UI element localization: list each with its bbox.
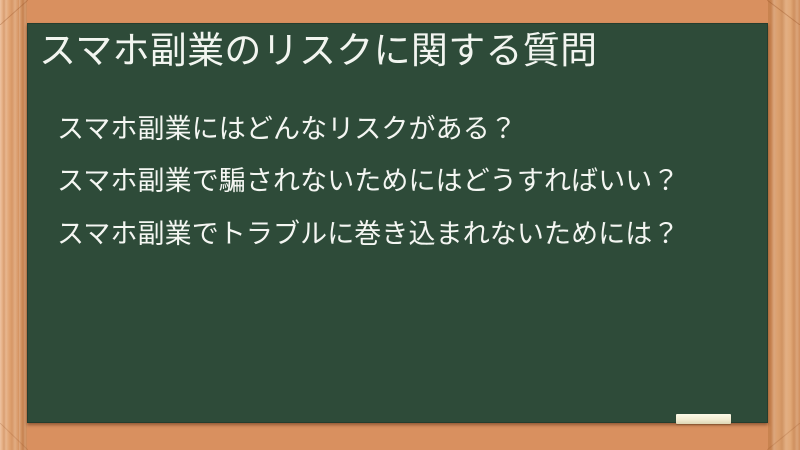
frame-rail-bottom bbox=[0, 424, 800, 450]
question-list-item: スマホ副業で騙されないためにはどうすればいい？ bbox=[57, 163, 757, 201]
question-list: スマホ副業にはどんなリスクがある？ スマホ副業で騙されないためにはどうすればいい… bbox=[57, 111, 757, 268]
question-list-item: スマホ副業にはどんなリスクがある？ bbox=[57, 111, 757, 149]
question-list-item: スマホ副業でトラブルに巻き込まれないためには？ bbox=[57, 216, 757, 254]
blackboard-slide: スマホ副業のリスクに関する質問 スマホ副業にはどんなリスクがある？ スマホ副業で… bbox=[0, 0, 800, 450]
frame-rail-top bbox=[0, 0, 800, 24]
chalkboard-content: スマホ副業のリスクに関する質問 スマホ副業にはどんなリスクがある？ スマホ副業で… bbox=[27, 23, 768, 423]
slide-title: スマホ副業のリスクに関する質問 bbox=[39, 28, 754, 74]
chalkboard-surface: スマホ副業のリスクに関する質問 スマホ副業にはどんなリスクがある？ スマホ副業で… bbox=[27, 23, 768, 423]
chalk-stick-icon bbox=[676, 414, 731, 424]
frame-rail-right bbox=[768, 0, 800, 450]
frame-rail-left bbox=[0, 0, 27, 450]
